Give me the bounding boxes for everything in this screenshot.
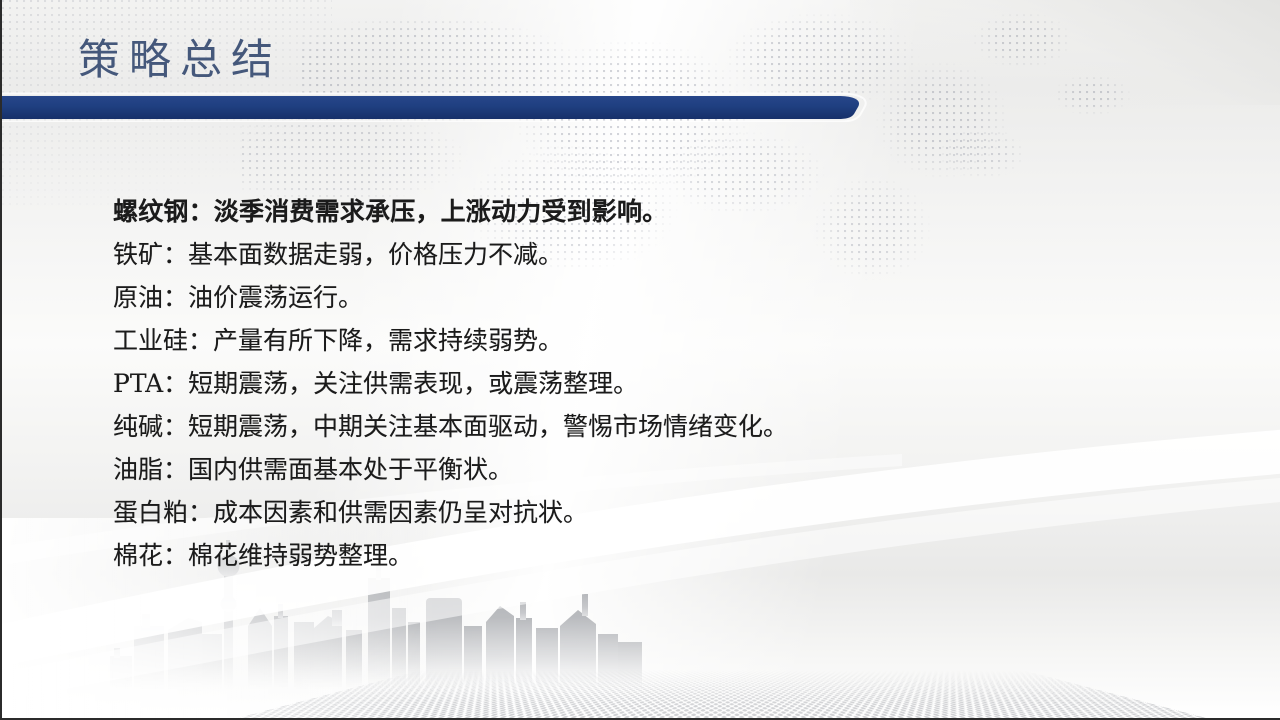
summary-line-cotton: 棉花：棉花维持弱势整理。 [113, 534, 1173, 577]
summary-line-industrial-silicon: 工业硅：产量有所下降，需求持续弱势。 [113, 319, 1173, 362]
summary-text-block: 螺纹钢：淡季消费需求承压，上涨动力受到影响。 铁矿：基本面数据走弱，价格压力不减… [113, 190, 1173, 577]
presentation-slide: 策略总结 螺纹钢：淡季消费需求承压，上涨动力受到影响。 铁矿：基本面数据走弱，价… [0, 0, 1280, 720]
header-accent-bar [2, 88, 962, 122]
summary-line-crude-oil: 原油：油价震荡运行。 [113, 276, 1173, 319]
summary-line-rebar: 螺纹钢：淡季消费需求承压，上涨动力受到影响。 [113, 190, 1173, 233]
summary-line-pta: PTA：短期震荡，关注供需表现，或震荡整理。 [113, 362, 1173, 405]
page-title: 策略总结 [78, 36, 282, 84]
summary-line-protein-meal: 蛋白粕：成本因素和供需因素仍呈对抗状。 [113, 491, 1173, 534]
summary-line-oils-fats: 油脂：国内供需面基本处于平衡状。 [113, 448, 1173, 491]
summary-line-soda-ash: 纯碱：短期震荡，中期关注基本面驱动，警惕市场情绪变化。 [113, 405, 1173, 448]
honeycomb-halftone-pattern [122, 670, 1280, 720]
summary-line-iron-ore: 铁矿：基本面数据走弱，价格压力不减。 [113, 233, 1173, 276]
